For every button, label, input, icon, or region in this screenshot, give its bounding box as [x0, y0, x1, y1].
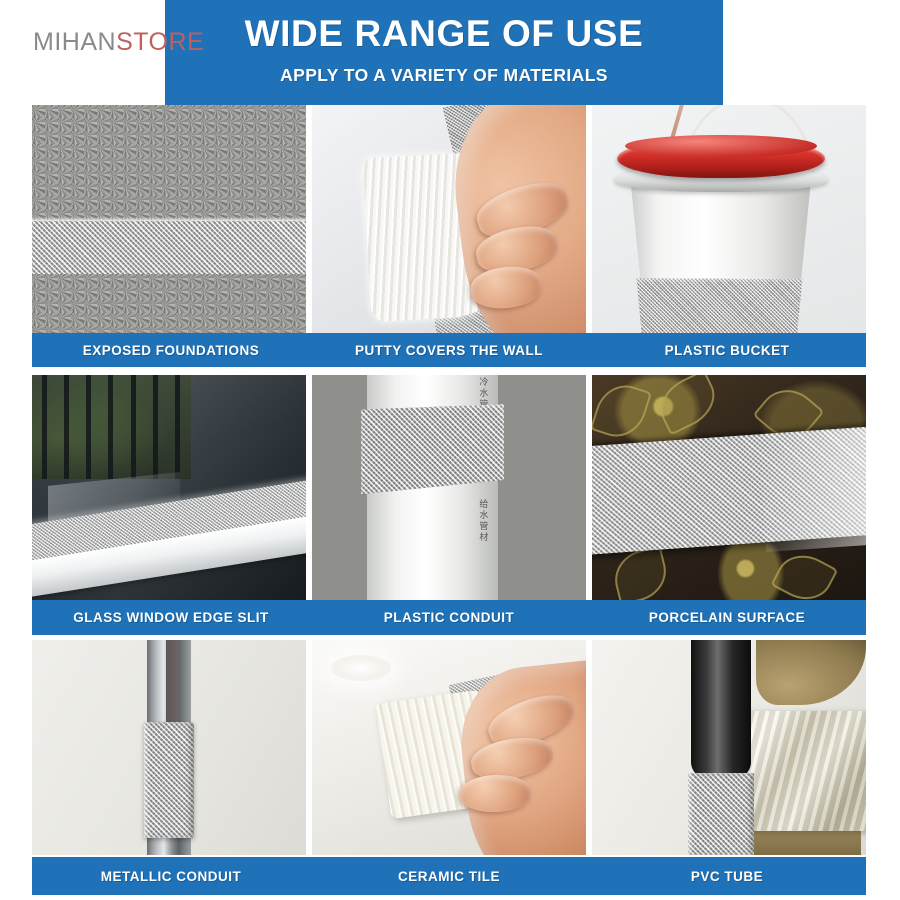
photo-plastic-conduit[interactable]: 冷水管 给水管材 [312, 375, 586, 600]
header-banner: WIDE RANGE OF USE APPLY TO A VARIETY OF … [165, 0, 723, 105]
infographic-canvas: MIHANSTORE WIDE RANGE OF USE APPLY TO A … [0, 0, 900, 900]
concrete-lower-texture [32, 274, 306, 333]
photo-putty-covers-wall[interactable] [312, 105, 586, 333]
gallery-row-2-labels: GLASS WINDOW EDGE SLIT PLASTIC CONDUIT P… [32, 600, 866, 635]
photo-ceramic-tile[interactable] [312, 640, 586, 855]
gallery-row-1: EXPOSED FOUNDATIONS PUTTY COVERS THE WAL… [32, 105, 866, 367]
photo-glass-window-edge-slit[interactable] [32, 375, 306, 600]
caption-ceramic-tile: CERAMIC TILE [310, 857, 588, 895]
watermark-primary-text: MIHAN [33, 28, 116, 56]
page-subtitle: APPLY TO A VARIETY OF MATERIALS [165, 63, 723, 87]
gallery-row-1-labels: EXPOSED FOUNDATIONS PUTTY COVERS THE WAL… [32, 333, 866, 367]
photo-porcelain-surface[interactable] [592, 375, 866, 600]
caption-glass-window-edge-slit: GLASS WINDOW EDGE SLIT [32, 600, 310, 635]
tape-strip-highlight [758, 427, 866, 552]
caption-metallic-conduit: METALLIC CONDUIT [32, 857, 310, 895]
page-title: WIDE RANGE OF USE [165, 13, 723, 55]
concrete-upper-texture [32, 105, 306, 224]
photo-exposed-foundations[interactable] [32, 105, 306, 333]
caption-plastic-conduit: PLASTIC CONDUIT [310, 600, 588, 635]
watermark-secondary-text: STORE [116, 28, 204, 56]
caption-putty-covers-wall: PUTTY COVERS THE WALL [310, 333, 588, 367]
photo-metallic-conduit[interactable] [32, 640, 306, 855]
caption-exposed-foundations: EXPOSED FOUNDATIONS [32, 333, 310, 367]
gallery-row-3-labels: METALLIC CONDUIT CERAMIC TILE PVC TUBE [32, 857, 866, 895]
caption-porcelain-surface: PORCELAIN SURFACE [588, 600, 866, 635]
gallery-row-3-images [32, 640, 866, 855]
gallery-row-3: METALLIC CONDUIT CERAMIC TILE PVC TUBE [32, 640, 866, 895]
ceiling-downlight [331, 655, 391, 681]
metal-conduit-reflection [166, 640, 177, 722]
reflected-railing [32, 375, 191, 479]
black-pvc-tube [691, 640, 751, 782]
tape-wrap [361, 404, 503, 494]
tape-strip [32, 221, 306, 278]
bucket-lid-top [625, 135, 817, 158]
tape-wrap [688, 773, 754, 855]
gallery-row-2: 冷水管 给水管材 GLASS WINDOW EDGE SLIT PLASTIC … [32, 375, 866, 635]
photo-plastic-bucket[interactable] [592, 105, 866, 333]
store-watermark: MIHANSTORE [33, 28, 204, 57]
foil-tape-sheet [745, 711, 866, 831]
gallery-row-1-images [32, 105, 866, 333]
pipe-print-lower: 给水管材 [476, 499, 489, 543]
caption-pvc-tube: PVC TUBE [588, 857, 866, 895]
photo-pvc-tube[interactable] [592, 640, 866, 855]
gallery-row-2-images: 冷水管 给水管材 [32, 375, 866, 600]
tape-wrap [144, 722, 193, 838]
caption-plastic-bucket: PLASTIC BUCKET [588, 333, 866, 367]
tape-band [633, 278, 806, 333]
